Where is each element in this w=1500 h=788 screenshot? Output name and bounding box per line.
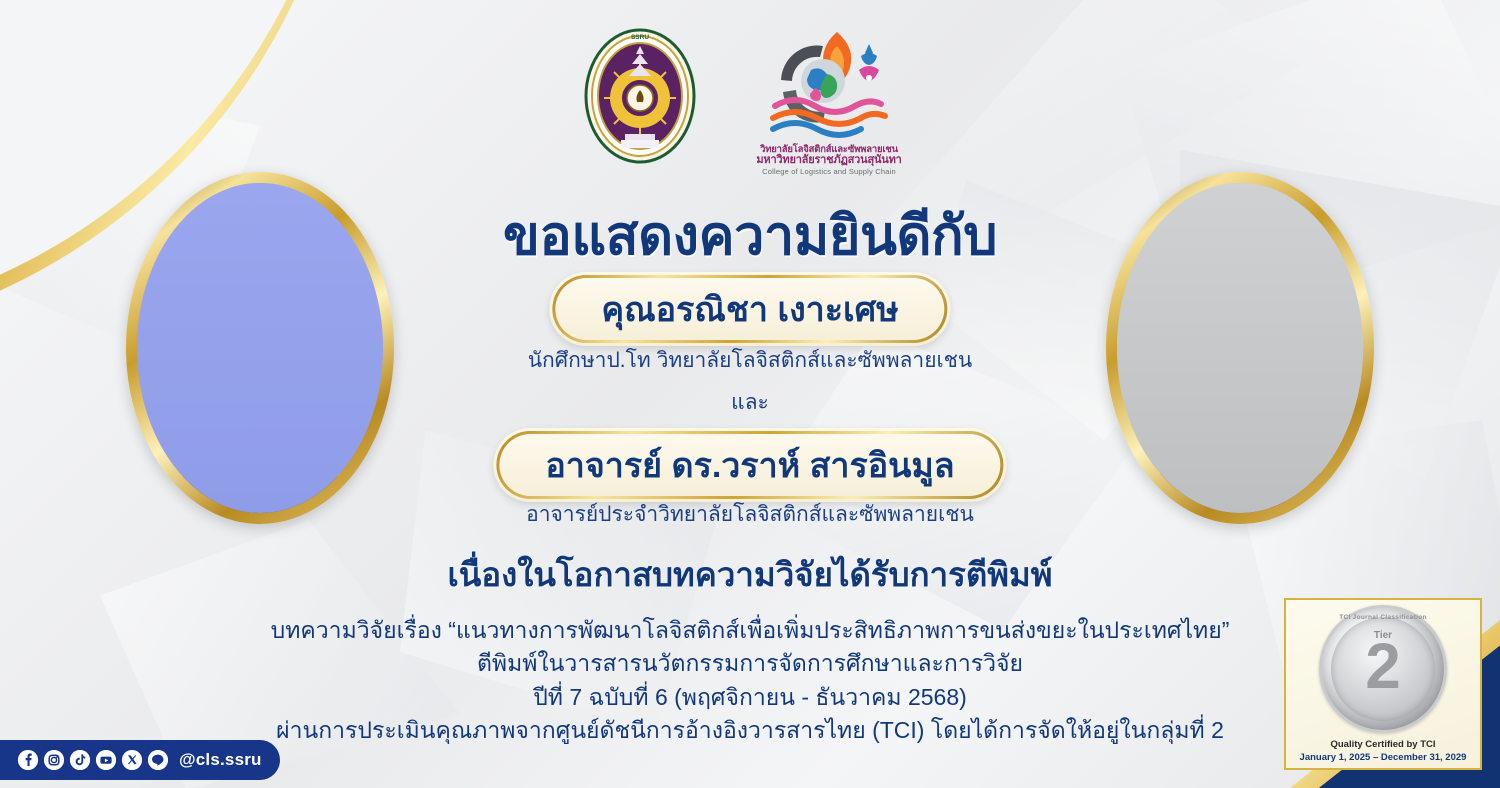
tci-certified-line: Quality Certified by TCI — [1330, 739, 1435, 750]
cls-logo: วิทยาลัยโลจิสติกส์และซัพพลายเชน มหาวิทยา… — [739, 26, 919, 175]
person1-name: คุณอรณิชา เงาะเศษ — [555, 278, 944, 340]
tci-tier-number: 2 — [1322, 634, 1444, 698]
occasion-headline: เนื่องในโอกาสบทความวิจัยได้รับการตีพิมพ์ — [0, 548, 1500, 601]
cls-caption-en: College of Logistics and Supply Chain — [756, 168, 901, 176]
tci-arc-text: TCI Journal Classification — [1322, 614, 1444, 621]
svg-text:SSRU: SSRU — [631, 34, 649, 41]
logo-row: SSRU — [0, 26, 1500, 175]
x-twitter-icon[interactable] — [122, 750, 142, 770]
page-title: ขอแสดงความยินดีกับ — [0, 192, 1500, 278]
cls-caption-th2: มหาวิทยาลัยราชภัฏสวนสุนันทา — [756, 155, 901, 167]
conjunction-label: และ — [0, 386, 1500, 419]
tiktok-icon[interactable] — [70, 750, 90, 770]
body-line-1: บทความวิจัยเรื่อง “แนวทางการพัฒนาโลจิสติ… — [0, 614, 1500, 647]
tci-badge: TCI Journal Classification Tier 2 Qualit… — [1284, 598, 1482, 770]
name-pill-person1: คุณอรณิชา เงาะเศษ — [549, 272, 950, 346]
instagram-icon[interactable] — [44, 750, 64, 770]
congratulations-poster: SSRU — [0, 0, 1500, 788]
person2-name: อาจารย์ ดร.วราห์ สารอินมูล — [499, 434, 1000, 496]
body-line-2: ตีพิมพ์ในวารสารนวัตกรรมการจัดการศึกษาและ… — [0, 647, 1500, 680]
social-handle[interactable]: @cls.ssru — [179, 750, 262, 770]
social-bar[interactable]: @cls.ssru — [0, 740, 280, 780]
body-paragraph: บทความวิจัยเรื่อง “แนวทางการพัฒนาโลจิสติ… — [0, 614, 1500, 747]
youtube-icon[interactable] — [96, 750, 116, 770]
name-pill-person2: อาจารย์ ดร.วราห์ สารอินมูล — [493, 428, 1006, 502]
body-line-3: ปีที่ 7 ฉบับที่ 6 (พฤศจิกายน - ธันวาคม 2… — [0, 681, 1500, 714]
facebook-icon[interactable] — [18, 750, 38, 770]
line-icon[interactable] — [148, 750, 168, 770]
ssru-seal-logo: SSRU — [581, 26, 699, 166]
tci-valid-period: January 1, 2025 – December 31, 2029 — [1300, 752, 1467, 763]
person1-role: นักศึกษาป.โท วิทยาลัยโลจิสติกส์และซัพพลา… — [0, 344, 1500, 377]
cls-flame-globe-icon — [761, 26, 897, 144]
person2-role: อาจารย์ประจำวิทยาลัยโลจิสติกส์และซัพพลาย… — [0, 498, 1500, 531]
tci-coin: TCI Journal Classification Tier 2 — [1319, 605, 1447, 733]
